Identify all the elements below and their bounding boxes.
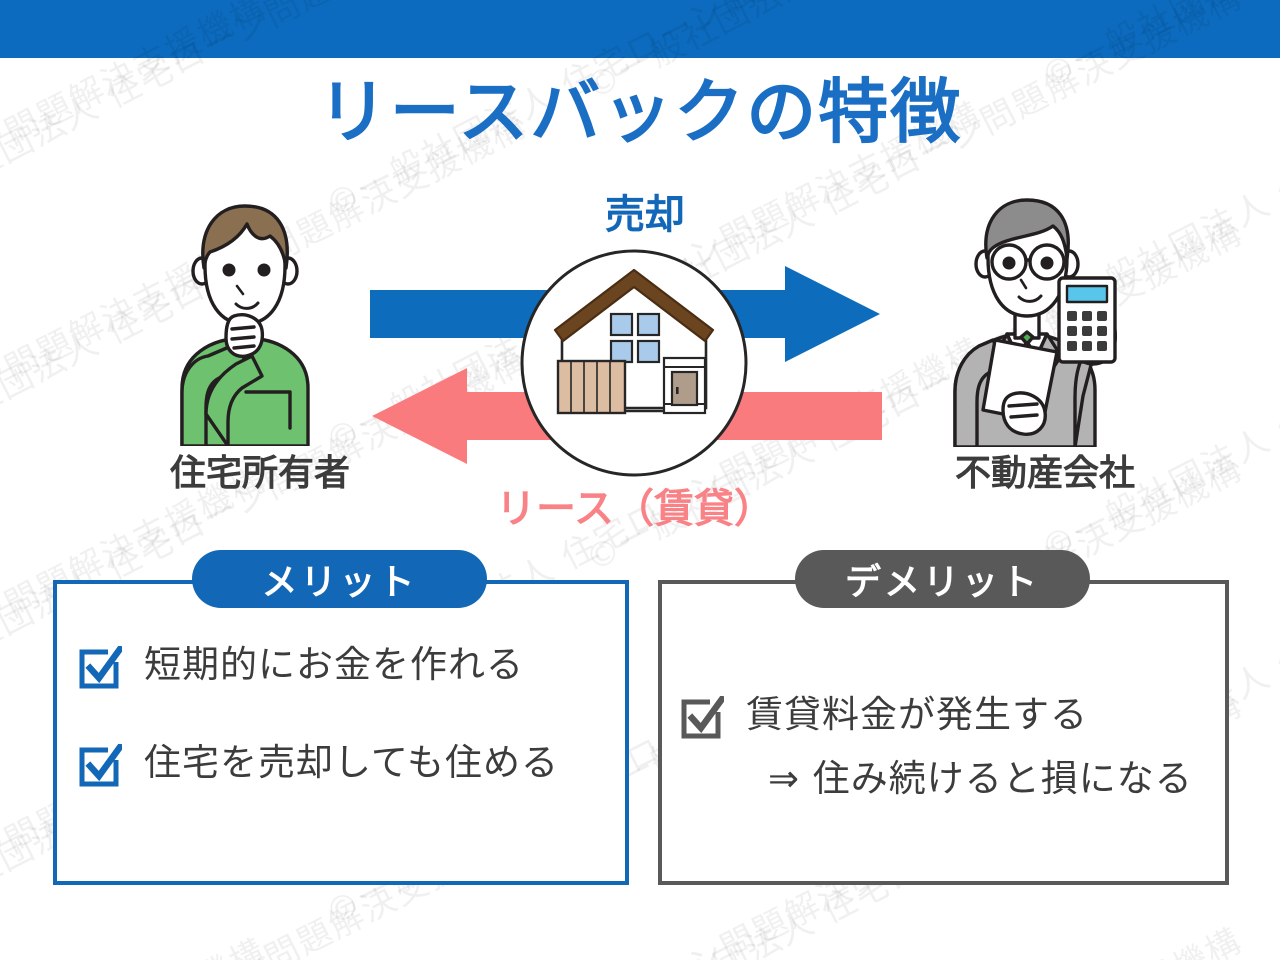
real-estate-agent-label: 不動産会社 xyxy=(900,444,1190,496)
house-icon xyxy=(519,248,749,478)
homeowner-illustration xyxy=(150,196,340,446)
merit-list: 短期的にお金を作れる 住宅を売却しても住める xyxy=(78,640,618,788)
homeowner-label: 住宅所有者 xyxy=(115,444,405,496)
real-estate-agent-illustration xyxy=(935,192,1140,447)
demerit-list-item: 賃貸料金が発生する ⇒ 住み続けると損になる xyxy=(680,690,1225,803)
header-bar xyxy=(0,0,1280,58)
slide-canvas: リースバックの特徴 売却 リース（賃貸） xyxy=(0,0,1280,960)
lease-flow-label: リース（賃貸） xyxy=(455,476,815,534)
merit-item-text: 短期的にお金を作れる xyxy=(144,640,524,690)
demerit-item-subtext: ⇒ 住み続けると損になる xyxy=(746,754,1193,804)
checkbox-checked-icon xyxy=(680,696,724,740)
checkbox-checked-icon xyxy=(78,646,122,690)
demerit-list: 賃貸料金が発生する ⇒ 住み続けると損になる xyxy=(680,690,1225,803)
merit-list-item: 短期的にお金を作れる xyxy=(78,640,618,690)
demerit-item-text: 賃貸料金が発生する xyxy=(746,690,1193,740)
merit-panel-title: メリット xyxy=(192,550,487,608)
merit-list-item: 住宅を売却しても住める xyxy=(78,738,618,788)
sell-flow-label: 売却 xyxy=(540,182,750,240)
demerit-panel-title: デメリット xyxy=(795,550,1090,608)
merit-item-text: 住宅を売却しても住める xyxy=(144,738,559,788)
page-title: リースバックの特徴 xyxy=(0,72,1280,153)
checkbox-checked-icon xyxy=(78,744,122,788)
